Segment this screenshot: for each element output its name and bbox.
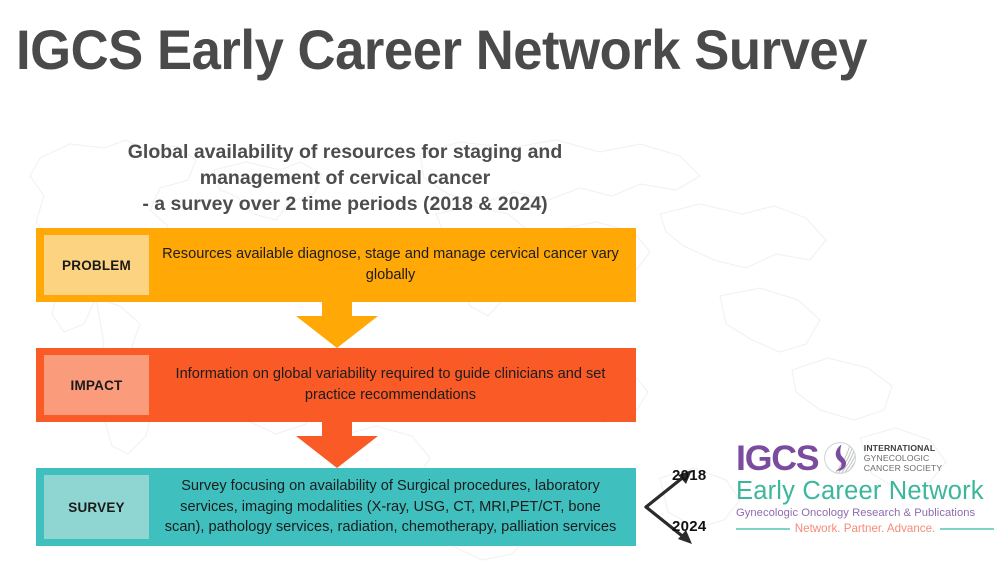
flow-label-survey: SURVEY <box>44 475 149 539</box>
flow-text-problem: Resources available diagnose, stage and … <box>149 228 636 302</box>
flow-text-impact: Information on global variability requir… <box>149 348 636 422</box>
down-arrow-problem-to-impact <box>296 300 378 348</box>
flow-text-survey: Survey focusing on availability of Surgi… <box>149 468 636 546</box>
flow-label-wrap-survey: SURVEY <box>44 475 149 539</box>
page-title: IGCS Early Career Network Survey <box>16 18 926 82</box>
tagline-rule-left <box>736 528 790 530</box>
flow-row-problem: PROBLEM Resources available diagnose, st… <box>36 228 636 302</box>
flow-label-wrap-impact: IMPACT <box>44 355 149 415</box>
flow-label-wrap-problem: PROBLEM <box>44 235 149 295</box>
igcs-org-name: INTERNATIONAL GYNECOLOGIC CANCER SOCIETY <box>864 443 943 473</box>
logo-tagline-row: Network. Partner. Advance. <box>736 522 994 535</box>
org-line-3: CANCER SOCIETY <box>864 463 943 473</box>
flow-label-impact: IMPACT <box>44 355 149 415</box>
org-line-1: INTERNATIONAL <box>864 443 943 453</box>
org-line-2: GYNECOLOGIC <box>864 453 943 463</box>
igcs-wordmark: IGCS <box>736 441 818 476</box>
logo-top-row: IGCS INTERN <box>736 440 996 476</box>
flow-row-survey: SURVEY Survey focusing on availability o… <box>36 468 636 546</box>
subtitle-line-3: - a survey over 2 time periods (2018 & 2… <box>60 192 630 218</box>
early-career-network-text: Early Career Network <box>736 477 996 505</box>
subtitle-line-2: management of cervical cancer <box>60 166 630 192</box>
tagline-rule-right <box>940 528 994 530</box>
slide-canvas: IGCS Early Career Network Survey Global … <box>0 0 1000 564</box>
down-arrow-impact-to-survey <box>296 420 378 468</box>
year-label-2018: 2018 <box>672 467 707 484</box>
flow-label-problem: PROBLEM <box>44 235 149 295</box>
igcs-emblem-icon <box>823 441 857 475</box>
subtitle-line-1: Global availability of resources for sta… <box>60 140 630 166</box>
logo-subline: Gynecologic Oncology Research & Publicat… <box>736 507 996 519</box>
logo-tagline: Network. Partner. Advance. <box>795 522 935 535</box>
flow-row-impact: IMPACT Information on global variability… <box>36 348 636 422</box>
igcs-logo: IGCS INTERN <box>736 440 996 552</box>
subtitle: Global availability of resources for sta… <box>60 140 630 218</box>
year-label-2024: 2024 <box>672 518 707 535</box>
